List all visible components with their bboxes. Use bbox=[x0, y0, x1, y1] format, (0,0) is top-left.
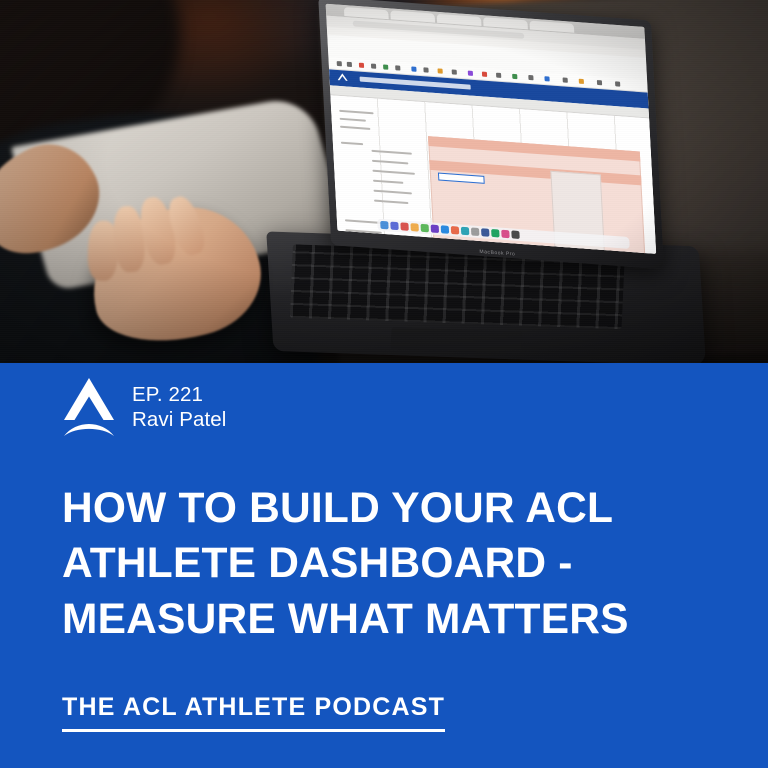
cell-text bbox=[340, 126, 370, 130]
episode-meta: EP. 221 Ravi Patel bbox=[132, 382, 226, 432]
laptop-screen bbox=[326, 4, 657, 254]
cell-text bbox=[372, 170, 414, 175]
cell-text bbox=[371, 150, 411, 155]
brand-arrow-icon bbox=[337, 73, 348, 84]
cell-text bbox=[374, 200, 408, 204]
dock-icon-app bbox=[461, 227, 469, 236]
toolbar-icon bbox=[468, 71, 473, 76]
cell-text bbox=[341, 142, 363, 146]
guest-name: Ravi Patel bbox=[132, 407, 226, 432]
toolbar-icon bbox=[544, 76, 549, 81]
acl-athlete-arrow-logo-icon bbox=[62, 376, 116, 438]
info-panel: EP. 221 Ravi Patel How to Build Your ACL… bbox=[0, 363, 768, 768]
banner-title-placeholder bbox=[360, 77, 471, 90]
toolbar-icon bbox=[347, 62, 352, 67]
dock-icon-finder bbox=[380, 221, 388, 230]
hero-photo: MacBook Pro bbox=[0, 0, 768, 363]
episode-header: EP. 221 Ravi Patel bbox=[62, 376, 226, 438]
podcast-episode-cover: MacBook Pro EP. 221 Ravi Patel How to Bu bbox=[0, 0, 768, 768]
toolbar-icon bbox=[579, 79, 584, 84]
episode-title: How to Build Your ACL Athlete Dashboard … bbox=[62, 481, 722, 647]
dock-icon-app bbox=[400, 222, 408, 231]
cell-text bbox=[345, 229, 381, 234]
dock-icon-app bbox=[421, 224, 429, 233]
cell-text bbox=[339, 110, 373, 114]
toolbar-icon bbox=[512, 74, 517, 79]
trackpad bbox=[391, 327, 523, 353]
laptop-lid: MacBook Pro bbox=[318, 0, 664, 269]
toolbar-icon bbox=[452, 69, 457, 74]
dock-icon-app bbox=[451, 226, 459, 235]
dock-icon-app bbox=[481, 228, 489, 237]
dock-icon-app bbox=[410, 223, 418, 232]
toolbar-icon bbox=[383, 64, 388, 69]
dock-icon-app bbox=[491, 229, 499, 238]
episode-number: EP. 221 bbox=[132, 382, 226, 407]
dock-icon-app bbox=[431, 225, 439, 234]
toolbar-icon bbox=[482, 72, 487, 77]
toolbar-icon bbox=[597, 80, 602, 85]
toolbar-icon bbox=[496, 73, 501, 78]
toolbar-icon bbox=[371, 64, 376, 69]
toolbar-icon bbox=[423, 67, 428, 72]
toolbar-icon bbox=[615, 81, 620, 86]
toolbar-icon bbox=[395, 65, 400, 70]
toolbar-icon bbox=[359, 63, 364, 68]
toolbar-icon bbox=[411, 66, 416, 71]
toolbar-icon bbox=[437, 68, 442, 73]
toolbar-icon bbox=[528, 75, 533, 80]
dock-icon-app bbox=[501, 230, 509, 239]
cell-text bbox=[373, 180, 403, 184]
toolbar-icon bbox=[563, 77, 568, 82]
dock-icon-app bbox=[471, 227, 479, 236]
podcast-show-name: THE ACL ATHLETE PODCAST bbox=[62, 693, 445, 732]
cell-text bbox=[340, 118, 366, 122]
laptop: MacBook Pro bbox=[287, 0, 693, 363]
toolbar-icon bbox=[337, 61, 342, 66]
dock-icon-app bbox=[441, 225, 449, 234]
cell-text bbox=[372, 160, 408, 165]
dock-icon-launchpad bbox=[390, 222, 398, 231]
cell-text bbox=[374, 190, 412, 195]
dock-icon-settings bbox=[511, 230, 519, 239]
